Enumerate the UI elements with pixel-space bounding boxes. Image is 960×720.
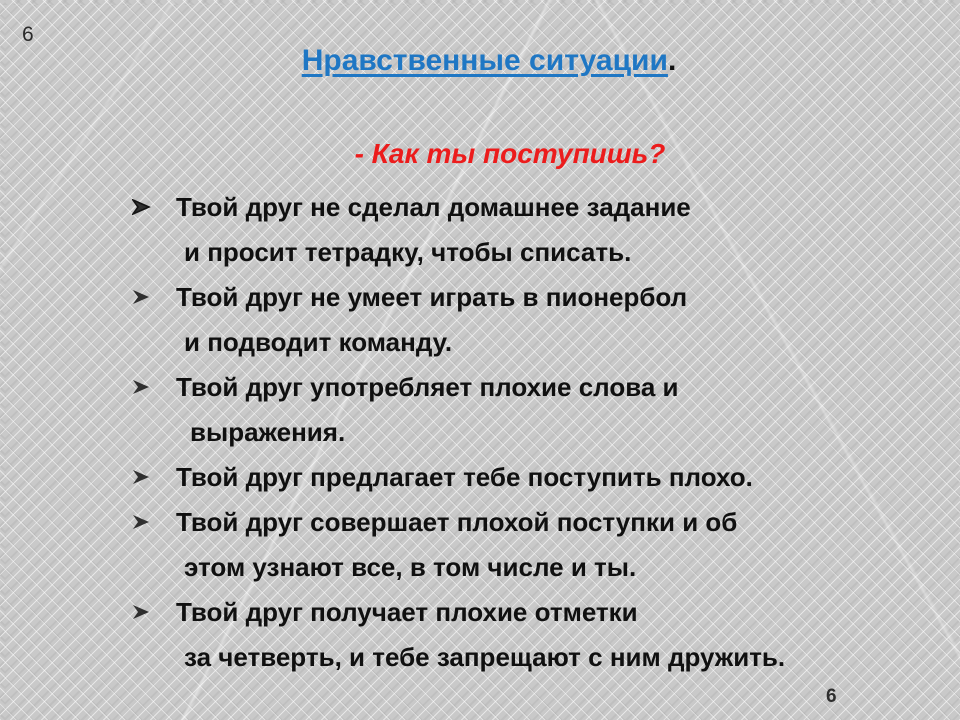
list-item-text: этом узнают все, в том числе и ты.	[166, 546, 636, 588]
page-title-punctuation: .	[668, 44, 676, 77]
list-item-continuation: и подводит команду.	[132, 321, 952, 366]
arrow-bullet-icon	[132, 186, 166, 215]
list-item: Твой друг получает плохие отметки за чет…	[132, 591, 952, 681]
list-item-text: Твой друг получает плохие отметки	[166, 591, 638, 633]
list-item: Твой друг не умеет играть в пионербол и …	[132, 276, 952, 366]
list-item-text: Твой друг совершает плохой поступки и об	[166, 501, 737, 543]
list-item-line: Твой друг получает плохие отметки	[132, 591, 952, 636]
arrow-bullet-icon	[132, 501, 166, 530]
list-item: Твой друг совершает плохой поступки и об…	[132, 501, 952, 591]
list-item-continuation: за четверть, и тебе запрещают с ним друж…	[132, 636, 952, 681]
list-item-continuation: выражения.	[132, 411, 952, 456]
list-item-text: Твой друг не умеет играть в пионербол	[166, 276, 687, 318]
slide-title: Нравственные ситуации.	[0, 44, 960, 78]
list-item-text: Твой друг не сделал домашнее задание	[166, 186, 691, 228]
arrow-bullet-icon	[132, 366, 166, 395]
list-item: Твой друг предлагает тебе поступить плох…	[132, 456, 952, 501]
arrow-bullet-icon	[132, 456, 166, 485]
list-item-text: выражения.	[166, 411, 345, 453]
list-item-text: Твой друг употребляет плохие слова и	[166, 366, 679, 408]
list-item-continuation: и просит тетрадку, чтобы списать.	[132, 231, 952, 276]
list-item-text: Твой друг предлагает тебе поступить плох…	[166, 456, 753, 498]
list-item-line: Твой друг предлагает тебе поступить плох…	[132, 456, 952, 501]
slide-subtitle: - Как ты поступишь?	[0, 138, 960, 170]
arrow-bullet-icon	[132, 591, 166, 620]
list-item-continuation: этом узнают все, в том числе и ты.	[132, 546, 952, 591]
list-item: Твой друг употребляет плохие слова и выр…	[132, 366, 952, 456]
arrow-bullet-icon	[132, 276, 166, 305]
list-item: Твой друг не сделал домашнее задание и п…	[132, 186, 952, 276]
situations-list: Твой друг не сделал домашнее задание и п…	[132, 186, 952, 681]
list-item-text: и просит тетрадку, чтобы списать.	[166, 231, 631, 273]
page-number-top: 6	[22, 24, 34, 45]
list-item-line: Твой друг не умеет играть в пионербол	[132, 276, 952, 321]
page-title: Нравственные ситуации	[302, 44, 668, 77]
page-number-bottom: 6	[826, 687, 837, 706]
slide-canvas: 6 Нравственные ситуации. - Как ты поступ…	[0, 0, 960, 720]
list-item-line: Твой друг не сделал домашнее задание	[132, 186, 952, 231]
list-item-text: и подводит команду.	[166, 321, 452, 363]
list-item-line: Твой друг употребляет плохие слова и	[132, 366, 952, 411]
list-item-text: за четверть, и тебе запрещают с ним друж…	[166, 636, 785, 678]
list-item-line: Твой друг совершает плохой поступки и об	[132, 501, 952, 546]
